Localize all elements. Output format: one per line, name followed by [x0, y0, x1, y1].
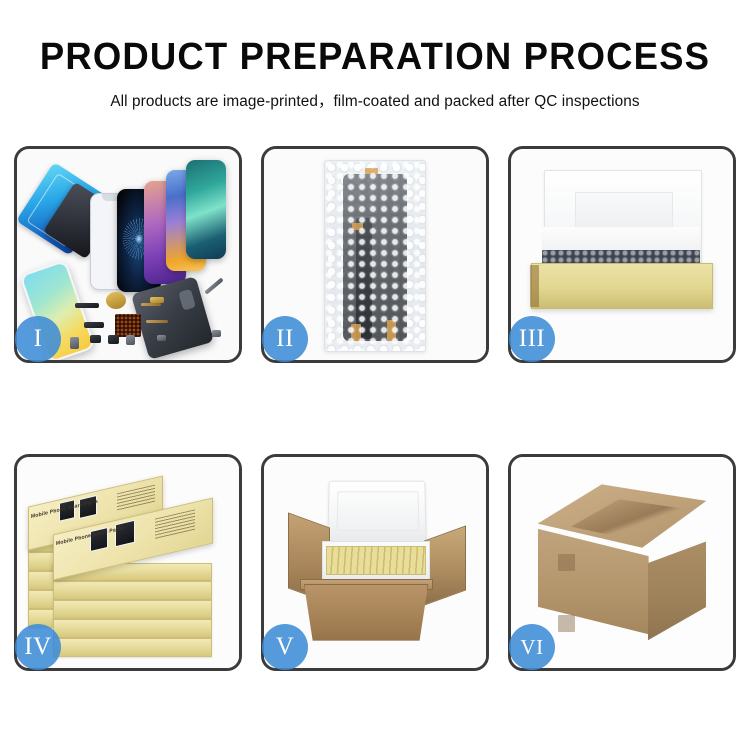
yellow-boxes-inside-icon [326, 546, 426, 576]
process-step-grid: I II [14, 146, 736, 686]
step-badge-5: V [262, 624, 308, 670]
step-badge-3: III [509, 316, 555, 362]
process-step-panel-1: I [14, 146, 242, 363]
lcd-flex-tail-icon [356, 218, 372, 340]
component-bar-icon [75, 303, 99, 308]
product-preparation-infographic: PRODUCT PREPARATION PROCESS All products… [0, 0, 750, 750]
page-subtitle: All products are image-printed，film-coat… [4, 89, 747, 111]
screw-2-icon [212, 330, 221, 336]
vibrator-icon [108, 335, 119, 344]
process-step-panel-5: V [261, 454, 489, 671]
tape-bottom-left-icon [351, 324, 361, 341]
retail-box [53, 638, 213, 657]
small-chip-icon [84, 322, 104, 328]
kraft-carton-icon [304, 584, 428, 641]
step-badge-2: II [262, 316, 308, 362]
lcd-assembly-teal-icon [186, 160, 226, 259]
box-side-shadow [530, 265, 539, 307]
carton-side-face [648, 541, 707, 640]
retail-box [53, 619, 213, 638]
carton-tab-lower [558, 615, 576, 632]
tape-middle-icon [352, 223, 363, 230]
foam-box-lid-icon [328, 481, 427, 544]
process-step-panel-4: Mobile Phone Spare Parts Mobile Phone Sp… [14, 454, 242, 671]
retail-box [53, 600, 213, 619]
flex-cable-2-icon [146, 320, 168, 323]
header: PRODUCT PREPARATION PROCESS All products… [0, 0, 750, 111]
tape-bottom-right-icon [387, 320, 396, 341]
step-badge-1: I [15, 316, 61, 362]
lcd-screen-icon [343, 174, 407, 341]
sim-tray-icon [126, 335, 135, 346]
foam-sheet-icon [542, 227, 700, 252]
yellow-inner-box-icon [531, 263, 713, 309]
process-step-panel-3: III [508, 146, 736, 363]
step-badge-6: VI [509, 624, 555, 670]
logic-board-icon [115, 314, 142, 337]
tape-top-icon [365, 168, 378, 174]
tweezers-icon [205, 277, 225, 294]
battery-connector-icon [70, 337, 79, 350]
speaker-component-icon [106, 292, 126, 309]
screw-icon [157, 335, 166, 341]
retail-box [53, 581, 213, 600]
step-badge-4: IV [15, 624, 61, 670]
flex-cable-icon [141, 303, 161, 306]
process-step-panel-6: VI [508, 454, 736, 671]
process-step-panel-2: II [261, 146, 489, 363]
page-title: PRODUCT PREPARATION PROCESS [15, 38, 735, 78]
bubble-bag-icon [324, 160, 426, 352]
camera-module-icon [90, 335, 101, 343]
carton-tab-upper [558, 554, 576, 571]
